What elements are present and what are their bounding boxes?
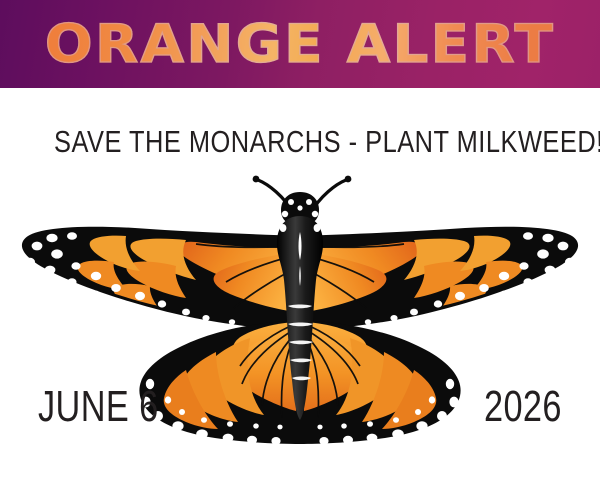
header-banner: ORANGE ALERT	[0, 0, 600, 88]
antenna-club-left	[253, 176, 260, 183]
event-year-right: 2026	[484, 382, 562, 432]
page-title: ORANGE ALERT	[0, 0, 600, 88]
antenna-club-right	[345, 176, 352, 183]
event-date-left: JUNE 6	[38, 382, 159, 432]
poster-canvas: ORANGE ALERT SAVE THE MONARCHS - PLANT M…	[0, 0, 600, 502]
subtitle-text: SAVE THE MONARCHS - PLANT MILKWEED!	[54, 124, 546, 160]
